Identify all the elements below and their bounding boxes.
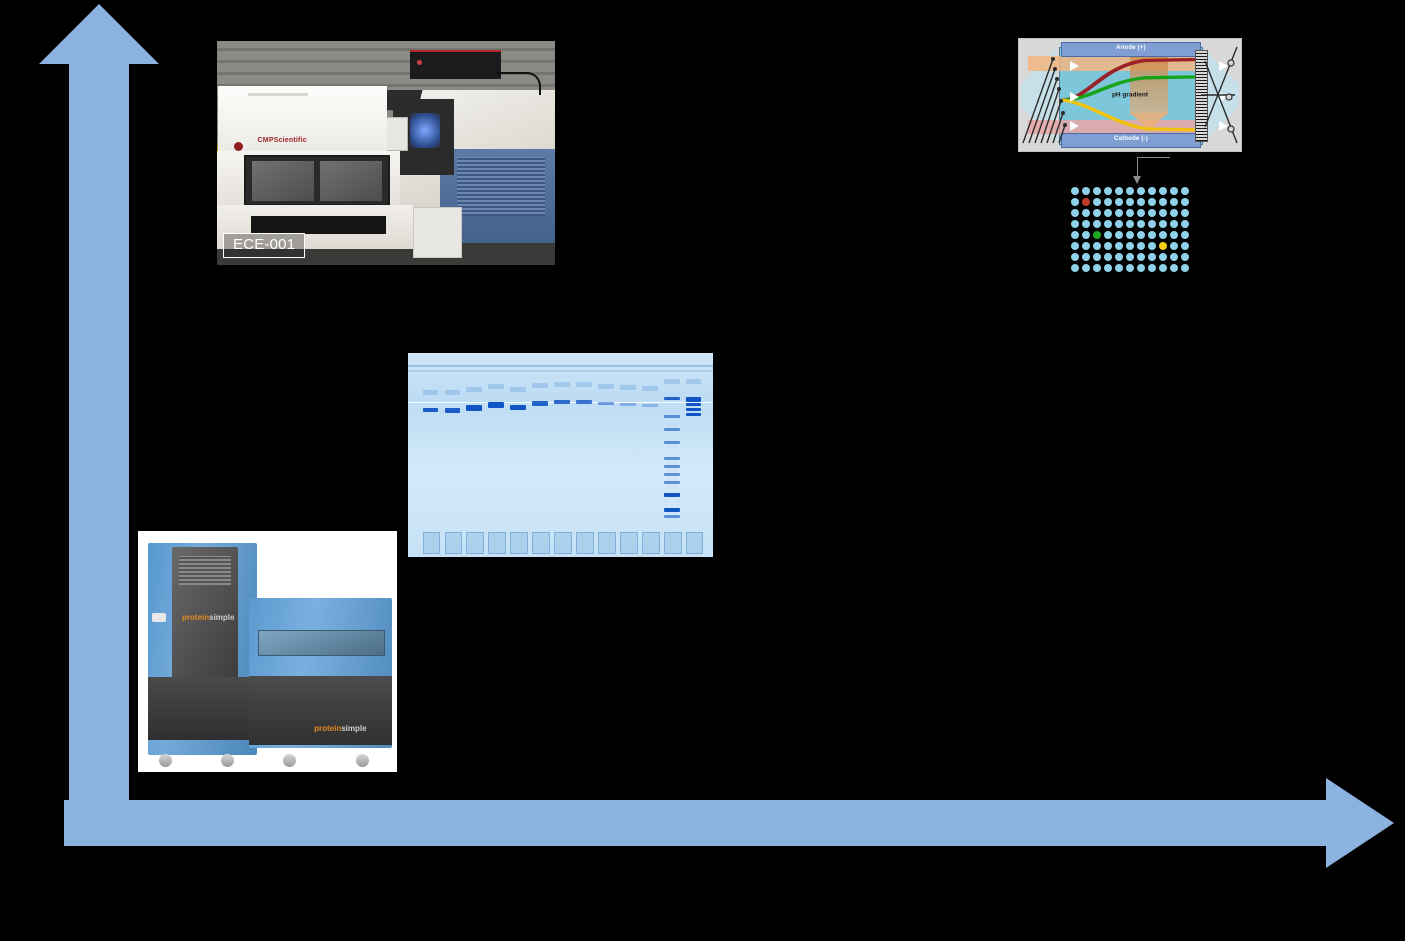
microarray-dot [1115,231,1123,239]
microarray-dot [1148,264,1156,272]
microarray-dot [1082,264,1090,272]
microarray-dot [1148,231,1156,239]
microarray-dot [1104,231,1112,239]
microarray-dot [1093,231,1101,239]
window-pane-right [320,161,382,201]
instrument-lid [258,630,385,656]
microarray-dot-grid [1069,185,1190,273]
microarray-dot [1126,187,1134,195]
window-pane-left [252,161,314,201]
proteinsimple-logo-bench: proteinsimple [314,724,366,733]
gel-band [686,408,702,411]
microarray-dot [1170,253,1178,261]
gel-band [445,408,461,413]
microarray-dot [1104,198,1112,206]
microarray-dot [1181,242,1189,250]
microarray-dot [1126,198,1134,206]
microarray-dot [1159,242,1167,250]
microarray-dot [1137,209,1145,217]
proteinsimple-instrument-photo: proteinsimple proteinsimple [138,531,397,772]
connector-arrowhead-icon [1133,176,1141,184]
microarray-dot [1071,209,1079,217]
microarray-dot [1115,220,1123,228]
gel-band [488,402,504,408]
gel-ladder-band [664,457,680,460]
gel-band [510,405,526,410]
gel-band [445,390,461,395]
figure-canvas: CMPScientific ECE-001 proteinsimple prot… [0,0,1405,941]
inlet-outlet-channels [1019,39,1241,151]
cmp-front-slot [251,216,386,234]
microarray-dot [1071,264,1079,272]
microarray-dot [1104,264,1112,272]
microarray-dot [1082,209,1090,217]
microarray-dot [1082,198,1090,206]
gel-band [423,408,439,412]
gel-well [532,532,550,554]
gel-well [510,532,528,554]
microarray-dot [1104,242,1112,250]
microarray-dot [1148,198,1156,206]
microarray-dot [1115,264,1123,272]
esi-spray-glow [410,113,440,148]
instrument-grill [179,556,231,586]
gel-well [466,532,484,554]
caster-4 [356,754,369,767]
caster-1 [159,754,172,767]
microarray-dot [1082,253,1090,261]
microarray-dot [1071,187,1079,195]
microarray-dot [1170,187,1178,195]
gel-well [576,532,594,554]
microarray-dot [1082,231,1090,239]
microarray-dot [1093,209,1101,217]
microarray-dot [1104,220,1112,228]
gel-well [445,532,463,554]
gel-band [598,384,614,389]
gel-band [576,400,592,404]
microarray-dot [1181,231,1189,239]
gel-band [488,384,504,389]
microarray-dot [1104,187,1112,195]
gel-ladder-band [664,465,680,468]
gel-ladder-band [664,473,680,476]
microarray-dot [1170,242,1178,250]
gel-band [664,379,680,384]
microarray-dot [1159,198,1167,206]
microarray-dot [1093,198,1101,206]
logo-word-protein: protein [182,613,209,622]
microarray-dot [1137,253,1145,261]
gel-band [532,383,548,388]
gel-ladder-band [664,508,680,512]
gel-ladder-band [664,415,680,418]
tall-instrument-base [148,677,257,741]
power-supply-unit [410,50,501,79]
microarray-dot [1082,242,1090,250]
microarray-dot [1181,187,1189,195]
microarray-dot [1137,187,1145,195]
gel-band [532,401,548,406]
microarray-dot [1170,209,1178,217]
microarray-dot [1137,220,1145,228]
gel-band [620,403,636,406]
microarray-dot [1137,231,1145,239]
gel-band [686,379,702,384]
microarray-dot [1159,187,1167,195]
gel-band [686,403,702,406]
microarray-dot [1181,209,1189,217]
gel-well [664,532,682,554]
instrument-buttons [152,613,166,621]
microarray-dot [1181,264,1189,272]
microarray-dot [1115,187,1123,195]
gel-ladder-band [664,481,680,484]
microarray-dot [1115,209,1123,217]
microarray-dot [1071,220,1079,228]
microarray-dot [1126,253,1134,261]
cmp-logo-text: CMPScientific [258,137,307,144]
tall-instrument [148,543,257,755]
microarray-dot [1137,198,1145,206]
logo-word-simple: simple [209,613,234,622]
gel-ladder-band [664,428,680,431]
psu-knob [417,60,422,65]
microarray-dot [1159,253,1167,261]
microarray-dot [1170,220,1178,228]
microarray-dot [1126,264,1134,272]
microarray-dot [1148,220,1156,228]
gel-band [466,387,482,392]
gel-ladder-band [664,493,680,497]
gel-band [554,400,570,404]
microarray-dot [1137,264,1145,272]
microarray-dot [1071,198,1079,206]
microarray-dot [1071,253,1079,261]
microarray-dot [1126,242,1134,250]
gel-ladder-band [664,515,680,518]
microarray-dot [1148,253,1156,261]
gel-well [620,532,638,554]
gel-band [686,397,702,402]
gel-band [642,386,658,391]
cmp-logo-icon [234,142,243,151]
gel-streak-top [408,365,713,367]
gel-band [620,385,636,390]
logo-word-protein-2: protein [314,724,341,733]
microarray-dot [1093,264,1101,272]
microarray-dot [1104,209,1112,217]
microarray-dot [1181,253,1189,261]
microarray-dot [1170,231,1178,239]
microarray-dot [1126,220,1134,228]
microarray-dot [1115,198,1123,206]
gel-well [598,532,616,554]
gel-band [576,382,592,387]
microarray-dot [1159,264,1167,272]
microarray-dot [1148,187,1156,195]
gel-band [664,397,680,400]
gel-band [423,390,439,395]
microarray-dot [1159,220,1167,228]
microarray-dot [1115,242,1123,250]
gel-band [510,387,526,392]
gel-well [686,532,704,554]
power-cable [496,72,542,94]
cmp-viewing-window [244,155,390,206]
gel-band [598,402,614,405]
microarray-dot [1093,220,1101,228]
gel-well [642,532,660,554]
gel-streak-top2 [408,370,713,372]
microarray-dot [1082,187,1090,195]
mass-spectrometer-vents [457,157,545,215]
gel-band [686,413,702,416]
caster-3 [283,754,296,767]
microarray-dot [1126,231,1134,239]
proteinsimple-logo-tall: proteinsimple [182,613,234,622]
gel-well [423,532,441,554]
gel-ladder-band [664,441,680,444]
ce-ms-instrument-photo: CMPScientific ECE-001 [217,41,555,265]
microarray-dot [1181,220,1189,228]
sds-page-gel-image [408,353,713,557]
elbow-connector-arrow [1137,157,1170,176]
microarray-dot [1093,187,1101,195]
caster-2 [221,754,234,767]
gel-band [554,382,570,387]
microarray-dot [1148,209,1156,217]
microarray-dot [1170,198,1178,206]
microarray-dot [1159,209,1167,217]
microarray-dot [1170,264,1178,272]
microarray-dot [1181,198,1189,206]
microarray-dot [1093,253,1101,261]
microarray-dot [1082,220,1090,228]
microarray-dot [1093,242,1101,250]
microarray-dot [1148,242,1156,250]
instrument-caption: ECE-001 [223,233,305,258]
logo-word-simple-2: simple [341,724,366,733]
gel-well [488,532,506,554]
waste-container [413,207,462,258]
microarray-dot [1071,242,1079,250]
microarray-dot [1126,209,1134,217]
microarray-dot [1137,242,1145,250]
microarray-dot [1115,253,1123,261]
microarray-dot [1071,231,1079,239]
microarray-dot [1159,231,1167,239]
x-axis-arrow [64,778,1394,868]
cief-schematic: Anode (+) Cathode (-) pH gradient [1018,38,1242,152]
gel-well [554,532,572,554]
gel-band [466,405,482,411]
gel-band [642,404,658,407]
bench-instrument-base [249,676,391,745]
microarray-dot [1104,253,1112,261]
